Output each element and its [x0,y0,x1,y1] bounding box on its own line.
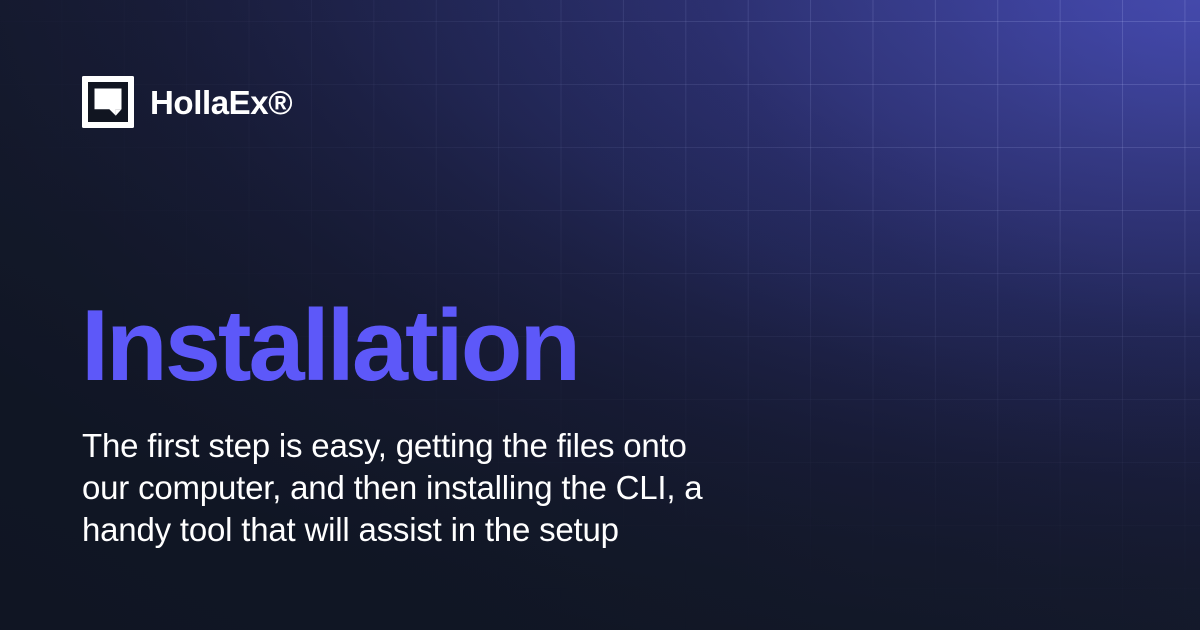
share-card: HollaEx® Installation The first step is … [0,0,1200,630]
description-line-2: our computer, and then installing the CL… [82,467,882,509]
card-content: HollaEx® Installation The first step is … [0,0,1200,630]
description-line-1: The first step is easy, getting the file… [82,425,882,467]
brand-lockup: HollaEx® [82,76,292,128]
page-description: The first step is easy, getting the file… [82,425,882,551]
page-title: Installation [81,296,578,397]
brand-wordmark: HollaEx® [150,86,292,119]
speech-bubble-square-logo-icon [82,76,134,128]
description-line-3: handy tool that will assist in the setup [82,509,882,551]
